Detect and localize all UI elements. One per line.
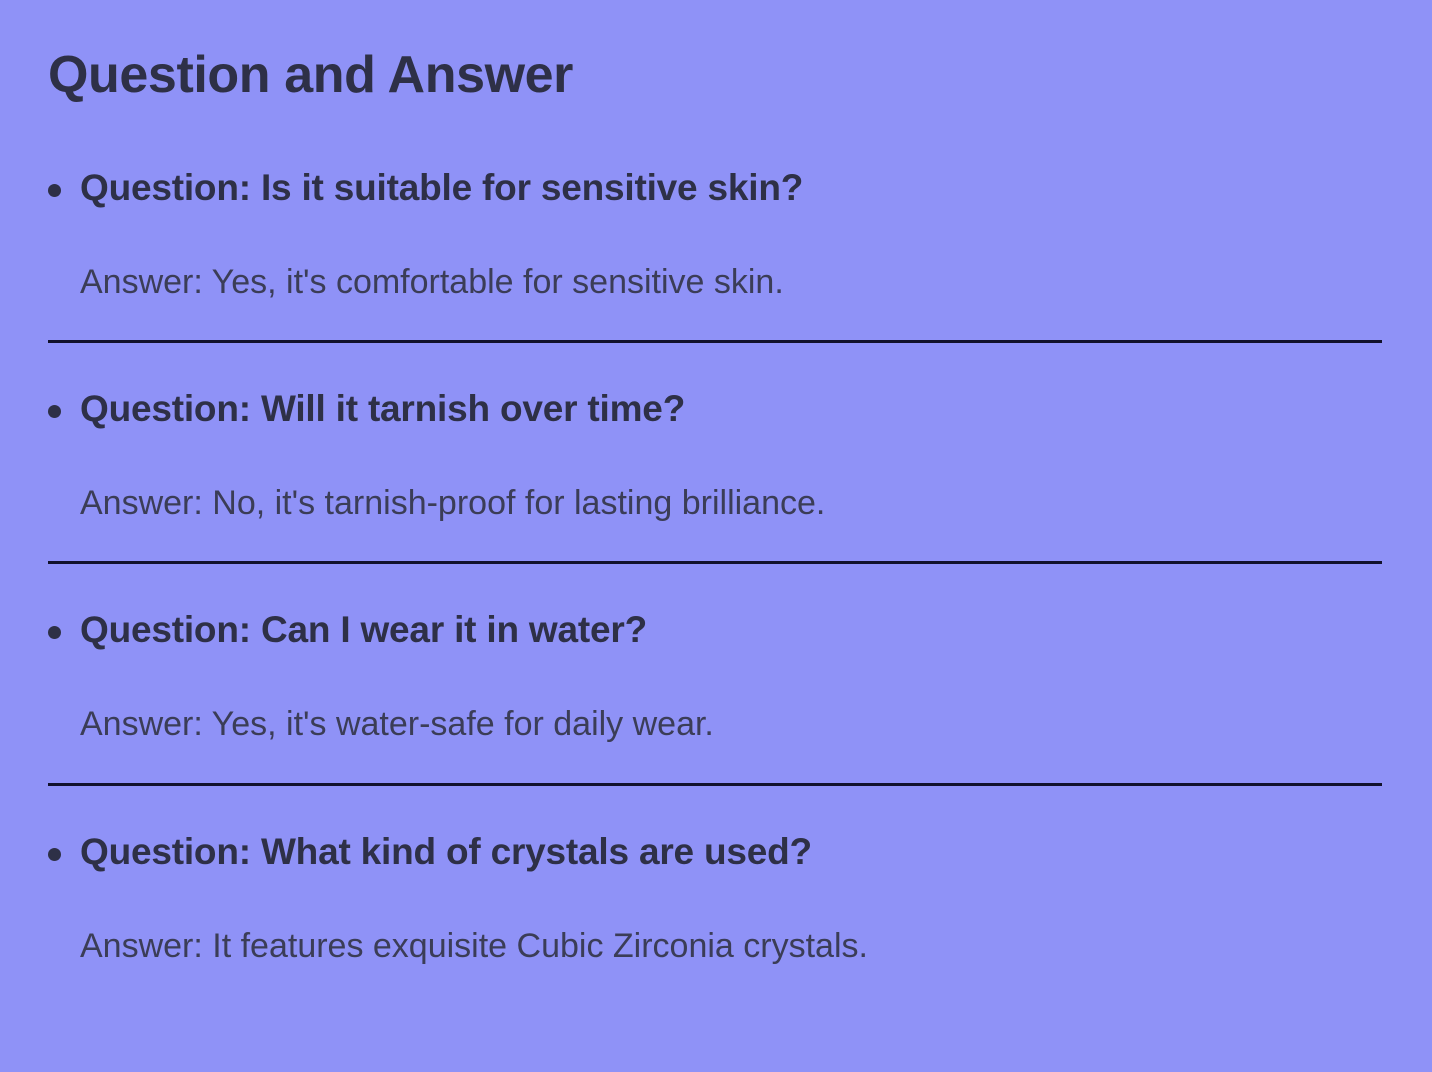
qa-list: Question: Is it suitable for sensitive s… (0, 164, 1432, 968)
qa-question-row: Question: Can I wear it in water? (0, 564, 1432, 658)
qa-question-text: Question: Will it tarnish over time? (80, 385, 1432, 433)
qa-answer-text: Answer: It features exquisite Cubic Zirc… (0, 880, 1432, 968)
qa-question-text: Question: What kind of crystals are used… (80, 828, 1432, 876)
qa-question-row: Question: Is it suitable for sensitive s… (0, 164, 1432, 216)
bullet-icon (48, 626, 61, 639)
qa-item: Question: Can I wear it in water? Answer… (0, 564, 1432, 785)
qa-question-text: Question: Is it suitable for sensitive s… (80, 164, 1432, 212)
qa-item: Question: Is it suitable for sensitive s… (0, 164, 1432, 343)
qa-page: Question and Answer Question: Is it suit… (0, 0, 1432, 1072)
qa-item: Question: Will it tarnish over time? Ans… (0, 343, 1432, 564)
qa-question-row: Question: What kind of crystals are used… (0, 786, 1432, 880)
qa-question-text: Question: Can I wear it in water? (80, 606, 1432, 654)
page-title: Question and Answer (48, 46, 573, 104)
qa-answer-text: Answer: Yes, it's comfortable for sensit… (0, 216, 1432, 304)
bullet-icon (48, 184, 61, 197)
qa-question-row: Question: Will it tarnish over time? (0, 343, 1432, 437)
bullet-icon (48, 848, 61, 861)
qa-item: Question: What kind of crystals are used… (0, 786, 1432, 968)
qa-answer-text: Answer: Yes, it's water-safe for daily w… (0, 658, 1432, 746)
bullet-icon (48, 405, 61, 418)
qa-answer-text: Answer: No, it's tarnish-proof for lasti… (0, 437, 1432, 525)
